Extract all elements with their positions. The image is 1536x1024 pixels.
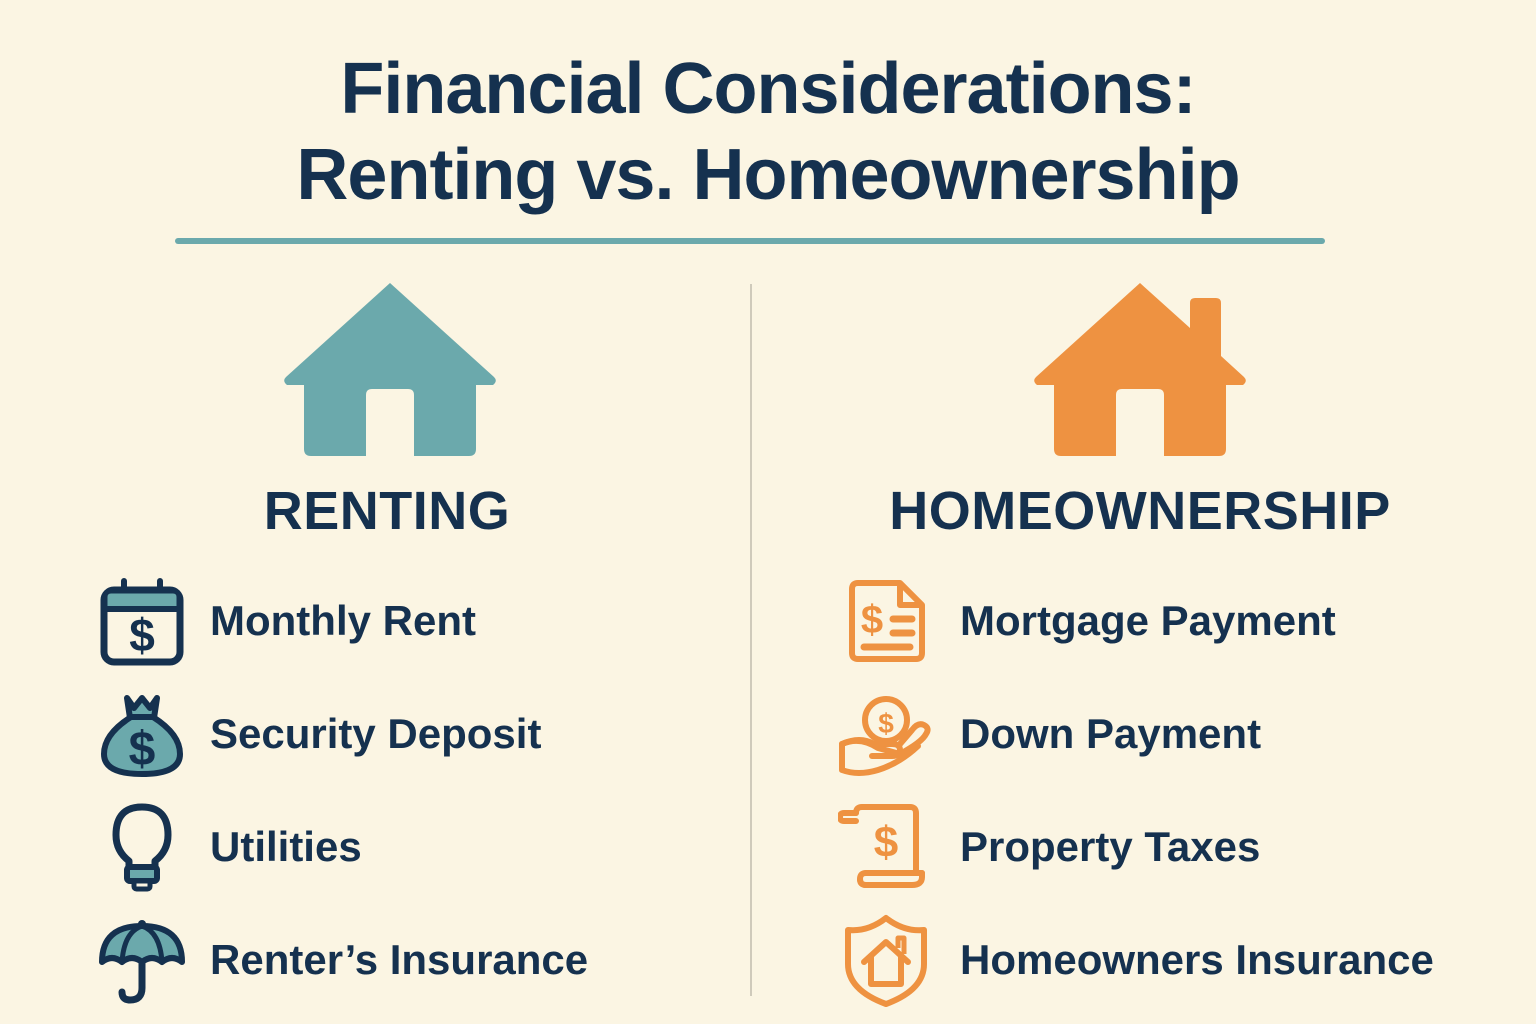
- money-bag-icon: $: [88, 680, 196, 788]
- list-item-label: Utilities: [210, 823, 362, 871]
- svg-text:$: $: [129, 609, 155, 661]
- list-item[interactable]: $ Security Deposit: [88, 677, 740, 790]
- column-heading-homeownership: HOMEOWNERSHIP: [790, 480, 1490, 542]
- list-item-label: Mortgage Payment: [960, 597, 1336, 645]
- list-item-label: Homeowners Insurance: [960, 936, 1434, 984]
- renting-item-list: $ Monthly Rent $ Security Deposit: [40, 564, 740, 1016]
- page-title: Financial Considerations: Renting vs. Ho…: [0, 46, 1536, 218]
- column-heading-renting: RENTING: [40, 480, 740, 542]
- infographic-canvas: Financial Considerations: Renting vs. Ho…: [0, 0, 1536, 1024]
- list-item-label: Security Deposit: [210, 710, 541, 758]
- list-item[interactable]: Homeowners Insurance: [832, 903, 1490, 1016]
- house-teal-icon: [40, 272, 740, 462]
- list-item-label: Renter’s Insurance: [210, 936, 588, 984]
- column-homeownership: HOMEOWNERSHIP $ Mortgage P: [790, 272, 1490, 1024]
- list-item[interactable]: $ Property Taxes: [832, 790, 1490, 903]
- list-item[interactable]: $ Down Payment: [832, 677, 1490, 790]
- svg-text:$: $: [861, 598, 883, 642]
- list-item[interactable]: $ Mortgage Payment: [832, 564, 1490, 677]
- title-line-2: Renting vs. Homeownership: [0, 132, 1536, 218]
- shield-house-icon: [832, 906, 940, 1014]
- calendar-dollar-icon: $: [88, 567, 196, 675]
- list-item[interactable]: Utilities: [88, 790, 740, 903]
- lightbulb-icon: [88, 793, 196, 901]
- hand-coin-icon: $: [832, 680, 940, 788]
- list-item[interactable]: $ Monthly Rent: [88, 564, 740, 677]
- column-divider: [750, 284, 752, 996]
- house-orange-icon: [790, 272, 1490, 462]
- homeownership-item-list: $ Mortgage Payment $: [790, 564, 1490, 1016]
- title-line-1: Financial Considerations:: [0, 46, 1536, 132]
- invoice-dollar-icon: $: [832, 567, 940, 675]
- svg-text:$: $: [874, 818, 898, 867]
- umbrella-icon: [88, 906, 196, 1014]
- svg-text:$: $: [878, 708, 894, 739]
- comparison-columns: RENTING $ Monthly Rent: [0, 272, 1536, 1024]
- list-item-label: Monthly Rent: [210, 597, 476, 645]
- column-renting: RENTING $ Monthly Rent: [40, 272, 740, 1024]
- list-item-label: Property Taxes: [960, 823, 1260, 871]
- svg-text:$: $: [129, 723, 156, 776]
- title-underline-rule: [175, 238, 1325, 244]
- scroll-dollar-icon: $: [832, 793, 940, 901]
- list-item[interactable]: Renter’s Insurance: [88, 903, 740, 1016]
- list-item-label: Down Payment: [960, 710, 1261, 758]
